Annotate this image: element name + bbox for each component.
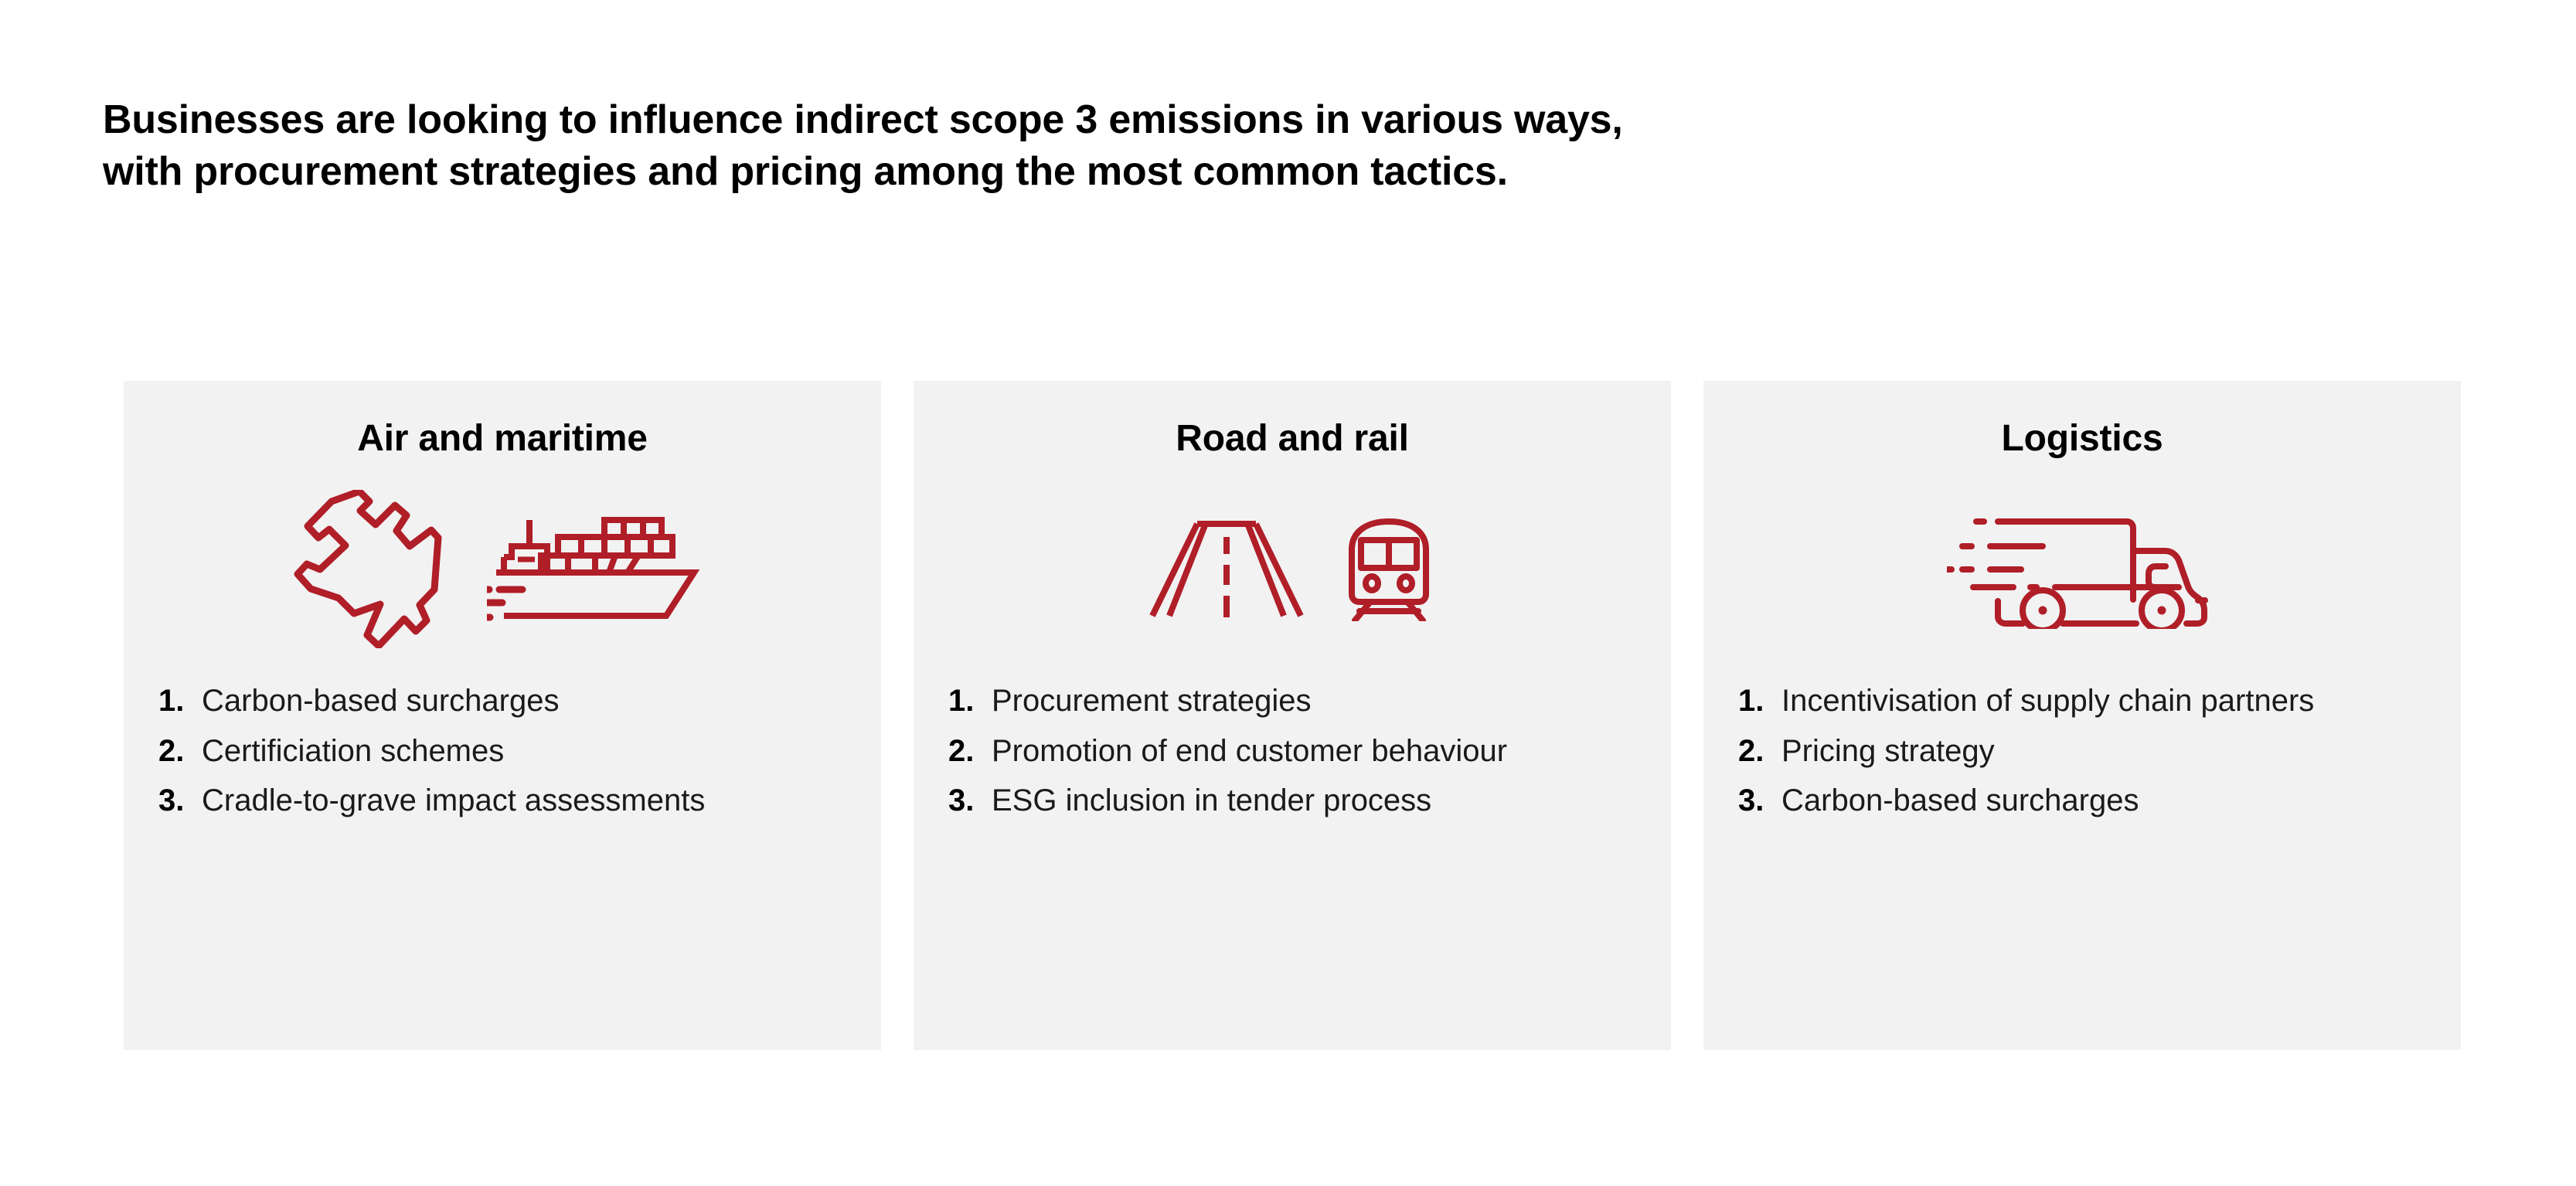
page-title: Businesses are looking to influence indi… xyxy=(103,94,2344,197)
list-item: 3. ESG inclusion in tender process xyxy=(948,780,1640,821)
list-item-number: 3. xyxy=(948,780,992,821)
list-item: 1. Incentivisation of supply chain partn… xyxy=(1738,681,2430,722)
card-title: Logistics xyxy=(1703,419,2461,460)
list-item: 2. Certificiation schemes xyxy=(158,731,850,772)
list-item-number: 2. xyxy=(1738,731,1781,772)
list-item-number: 3. xyxy=(1738,780,1781,821)
tactics-list: 1. Carbon-based surcharges 2. Certificia… xyxy=(124,681,881,821)
card-icon-group xyxy=(1703,477,2461,662)
delivery-truck-icon xyxy=(1947,509,2217,629)
list-item: 3. Carbon-based surcharges xyxy=(1738,780,2430,821)
card-title: Road and rail xyxy=(914,419,1671,460)
list-item-label: Promotion of end customer behaviour xyxy=(992,731,1640,772)
road-icon xyxy=(1149,520,1304,619)
list-item-number: 2. xyxy=(158,731,202,772)
list-item: 2. Pricing strategy xyxy=(1738,731,2430,772)
list-item-label: Incentivisation of supply chain partners xyxy=(1781,681,2430,722)
card-title: Air and maritime xyxy=(124,419,881,460)
list-item-label: Carbon-based surcharges xyxy=(202,681,850,722)
page-title-line-1: Businesses are looking to influence indi… xyxy=(103,94,2344,146)
list-item-label: Pricing strategy xyxy=(1781,731,2430,772)
card-logistics: Logistics xyxy=(1703,381,2461,1050)
card-icon-group xyxy=(914,477,1671,662)
list-item-number: 1. xyxy=(1738,681,1781,722)
list-item-label: ESG inclusion in tender process xyxy=(992,780,1640,821)
tactics-list: 1. Incentivisation of supply chain partn… xyxy=(1703,681,2461,821)
card-icon-group xyxy=(124,477,881,662)
container-ship-icon xyxy=(487,515,711,624)
list-item-label: Carbon-based surcharges xyxy=(1781,780,2430,821)
list-item-label: Procurement strategies xyxy=(992,681,1640,722)
infographic-root: Businesses are looking to influence indi… xyxy=(0,0,2576,1186)
list-item-number: 1. xyxy=(948,681,992,722)
list-item: 1. Carbon-based surcharges xyxy=(158,681,850,722)
list-item-number: 2. xyxy=(948,731,992,772)
list-item-label: Cradle-to-grave impact assessments xyxy=(202,780,850,821)
card-row: Air and maritime xyxy=(124,381,2461,1050)
page-title-line-2: with procurement strategies and pricing … xyxy=(103,146,2344,198)
list-item-number: 3. xyxy=(158,780,202,821)
airplane-icon xyxy=(294,490,448,648)
list-item: 1. Procurement strategies xyxy=(948,681,1640,722)
card-road-and-rail: Road and rail xyxy=(914,381,1671,1050)
tactics-list: 1. Procurement strategies 2. Promotion o… xyxy=(914,681,1671,821)
list-item-number: 1. xyxy=(158,681,202,722)
list-item: 2. Promotion of end customer behaviour xyxy=(948,731,1640,772)
card-air-and-maritime: Air and maritime xyxy=(124,381,881,1050)
train-icon xyxy=(1342,517,1435,621)
list-item-label: Certificiation schemes xyxy=(202,731,850,772)
list-item: 3. Cradle-to-grave impact assessments xyxy=(158,780,850,821)
